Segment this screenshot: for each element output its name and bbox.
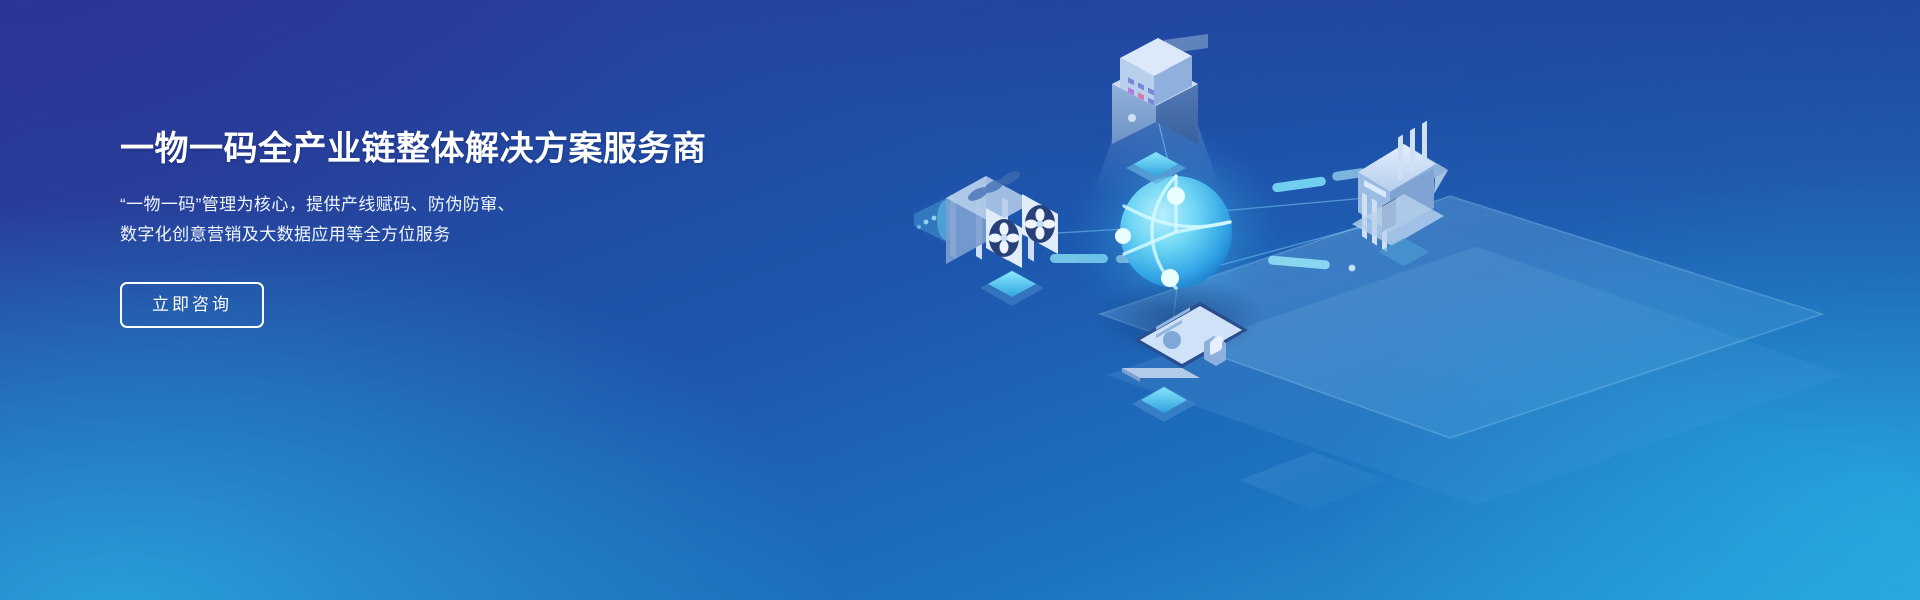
data-dot-b xyxy=(1349,265,1356,272)
sphere-node-left xyxy=(1115,228,1131,244)
consult-now-button[interactable]: 立即咨询 xyxy=(120,282,264,328)
hero-subtitle: “一物一码”管理为核心，提供产线赋码、防伪防窜、 数字化创意营销及大数据应用等全… xyxy=(120,190,707,250)
isometric-network-illustration xyxy=(880,0,1780,600)
hero-subtitle-line-1: “一物一码”管理为核心，提供产线赋码、防伪防窜、 xyxy=(120,190,707,220)
sphere-node-bottom xyxy=(1161,269,1179,287)
laptop-user-avatar xyxy=(1163,331,1181,349)
hero-illustration xyxy=(880,0,1780,600)
server-pedestal xyxy=(980,270,1044,306)
server-fan-rack-icon xyxy=(914,168,1058,268)
page-title: 一物一码全产业链整体解决方案服务商 xyxy=(120,128,707,171)
fan-unit-b xyxy=(1022,194,1058,254)
hero-subtitle-line-2: 数字化创意营销及大数据应用等全方位服务 xyxy=(120,220,707,250)
data-capsule-right-upper xyxy=(1272,176,1327,192)
hero-copy-block: 一物一码全产业链整体解决方案服务商 “一物一码”管理为核心，提供产线赋码、防伪防… xyxy=(120,128,707,328)
hero-banner: 一物一码全产业链整体解决方案服务商 “一物一码”管理为核心，提供产线赋码、防伪防… xyxy=(0,0,1920,600)
pos-knob xyxy=(1128,114,1136,122)
